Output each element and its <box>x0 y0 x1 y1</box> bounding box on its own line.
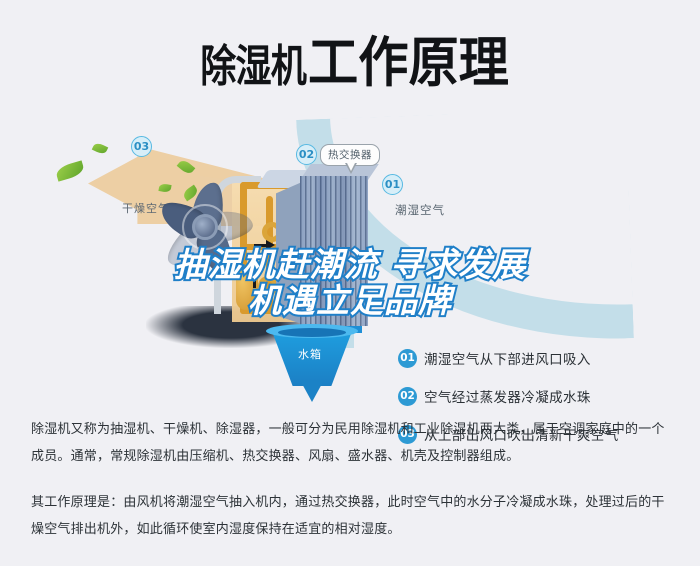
heat-exchanger-fins <box>300 176 368 326</box>
heat-exchanger-side <box>276 182 302 324</box>
leaf-icon <box>92 141 109 155</box>
humid-air-label: 潮湿空气 <box>395 202 445 218</box>
page-title: 除湿机工作原理 <box>0 18 700 97</box>
legend-row: 02 空气经过蒸发器冷凝成水珠 <box>398 386 591 406</box>
page-title-main: 工作原理 <box>308 18 509 97</box>
fan-icon <box>152 174 256 278</box>
water-tank-tip <box>300 380 324 402</box>
legend-text-01: 潮湿空气从下部进风口吸入 <box>424 348 591 368</box>
page-title-prefix: 除湿机 <box>200 30 306 94</box>
coil-pipe <box>266 196 273 314</box>
working-principle-diagram: 干燥空气 <box>0 118 700 398</box>
legend-row: 01 潮湿空气从下部进风口吸入 <box>398 348 591 368</box>
water-tank-opening <box>278 328 346 337</box>
fan-hub <box>192 214 218 240</box>
leaf-icon <box>55 160 86 181</box>
body-paragraph-1: 除湿机又称为抽湿机、干燥机、除湿器，一般可分为民用除湿机和工业除湿机两大类，属于… <box>31 416 676 470</box>
heat-exchanger-block <box>300 176 368 326</box>
legend-badge-01: 01 <box>398 349 417 368</box>
diagram-badge-03: 03 <box>131 136 152 157</box>
diagram-badge-02: 02 <box>296 144 317 165</box>
diagram-badge-01: 01 <box>382 174 403 195</box>
body-paragraph-2: 其工作原理是：由风机将潮湿空气抽入机内，通过热交换器，此时空气中的水分子冷凝成水… <box>31 489 676 543</box>
water-tank-label: 水箱 <box>298 346 322 362</box>
legend-text-02: 空气经过蒸发器冷凝成水珠 <box>424 386 591 406</box>
coil-joint <box>258 276 278 296</box>
legend-badge-02: 02 <box>398 387 417 406</box>
body-copy: 除湿机又称为抽湿机、干燥机、除湿器，一般可分为民用除湿机和工业除湿机两大类，属于… <box>31 416 676 543</box>
heat-exchanger-callout-pointer <box>345 163 357 174</box>
infographic-page: 除湿机工作原理 干燥空气 <box>0 0 700 566</box>
flow-arrow-right-icon <box>266 240 275 250</box>
